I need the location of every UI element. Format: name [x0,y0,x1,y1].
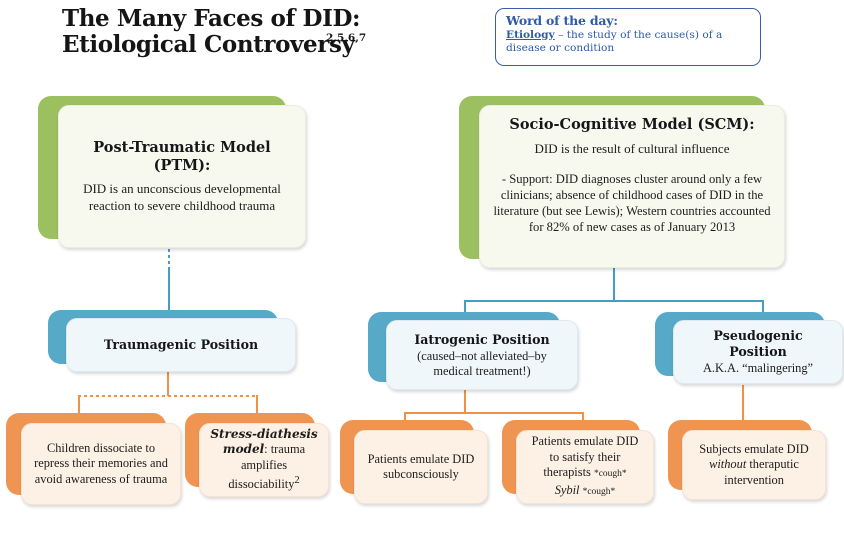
card-traumagenic-position[interactable]: Traumagenic Position [48,310,296,372]
ptm-body: DID is an unconscious developmental reac… [68,180,296,214]
card-front-panel: Post-Traumatic Model (PTM): DID is an un… [58,105,306,248]
connector-scm-stem [613,265,615,302]
card-front-panel: Children dissociate to repress their mem… [21,423,181,505]
ptm-heading: Post-Traumatic Model (PTM): [68,139,296,175]
card-pseudogenic-position[interactable]: Pseudogenic Position A.K.A. “malingering… [655,312,843,384]
card-emulate-for-therapists[interactable]: Patients emulate DID to satisfy their th… [502,420,654,504]
iatrogenic-sub: (caused–not alleviated–by medical treatm… [396,349,568,379]
card-emulate-without-therapy[interactable]: Subjects emulate DID without theraputic … [668,420,826,500]
title-line-1: The Many Faces of DID: [62,6,392,32]
cough-marker-1: *cough* [594,469,627,479]
title-superscript-citations: 2,5,6,7 [326,32,366,44]
card-front-panel: Socio-Cognitive Model (SCM): DID is the … [479,105,785,268]
traumagenic-heading: Traumagenic Position [76,337,286,353]
emulate-without-therapy-text: Subjects emulate DID without theraputic … [692,442,816,489]
emulate-for-therapists-text: Patients emulate DID to satisfy their th… [526,434,644,500]
scm-support: - Support: DID diagnoses cluster around … [489,171,775,235]
stress-diathesis-citation: 2 [294,475,299,486]
card-emulate-subconsciously[interactable]: Patients emulate DID subconsciously [340,420,488,504]
scm-heading: Socio-Cognitive Model (SCM): [489,116,775,134]
emulate-without-lead: Subjects emulate DID [699,442,808,456]
card-post-traumatic-model[interactable]: Post-Traumatic Model (PTM): DID is an un… [38,96,306,248]
stress-diathesis-text: Stress-diathesis model: trauma amplifies… [209,427,319,493]
card-front-panel: Iatrogenic Position (caused–not alleviat… [386,320,578,390]
connector-ptm-to-traumagenic [168,268,170,310]
card-front-panel: Stress-diathesis model: trauma amplifies… [199,423,329,497]
word-of-the-day-definition: Etiology – the study of the cause(s) of … [506,29,751,55]
connector-traumagenic-to-stress-diathesis [256,395,258,413]
card-front-panel: Patients emulate DID subconsciously [354,430,488,504]
pseudogenic-sub: A.K.A. “malingering” [683,361,833,376]
card-front-panel: Traumagenic Position [66,318,296,372]
children-dissociate-text: Children dissociate to repress their mem… [31,441,171,488]
card-socio-cognitive-model[interactable]: Socio-Cognitive Model (SCM): DID is the … [459,96,785,268]
card-stress-diathesis[interactable]: Stress-diathesis model: trauma amplifies… [185,413,329,497]
connector-pseudogenic-to-subjects [742,385,744,425]
emulate-subconsciously-text: Patients emulate DID subconsciously [364,452,478,483]
sybil-reference: Sybil [555,483,580,497]
card-front-panel: Patients emulate DID to satisfy their th… [516,430,654,504]
word-of-the-day-heading: Word of the day: [506,14,751,28]
pseudogenic-heading: Pseudogenic Position [683,328,833,360]
connector-traumagenic-bus [78,395,258,397]
card-iatrogenic-position[interactable]: Iatrogenic Position (caused–not alleviat… [368,312,578,390]
connector-traumagenic-to-children [78,395,80,413]
connector-traumagenic-stem [167,368,169,396]
without-emphasis: without [709,457,746,471]
word-of-the-day-box: Word of the day: Etiology – the study of… [495,8,761,66]
iatrogenic-heading: Iatrogenic Position [396,332,568,348]
scm-body: DID is the result of cultural influence [489,140,775,157]
connector-iatrogenic-bus [404,412,584,414]
cough-marker-2: *cough* [583,487,616,497]
connector-scm-bus [464,300,764,302]
card-front-panel: Subjects emulate DID without theraputic … [682,430,826,500]
card-children-dissociate[interactable]: Children dissociate to repress their mem… [6,413,181,505]
word-of-the-day-term: Etiology [506,29,555,41]
card-front-panel: Pseudogenic Position A.K.A. “malingering… [673,320,843,384]
diagram-canvas: The Many Faces of DID: Etiological Contr… [0,0,844,553]
